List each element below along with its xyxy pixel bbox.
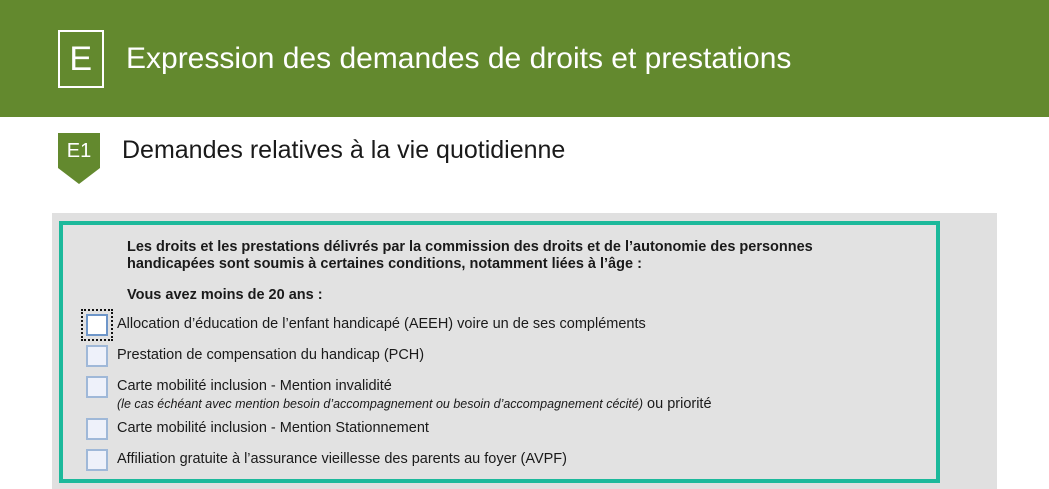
- option-checkbox[interactable]: [86, 449, 108, 471]
- section-title: Expression des demandes de droits et pre…: [126, 42, 791, 75]
- option-note: (le cas échéant avec mention besoin d’ac…: [117, 396, 712, 412]
- option-checkbox[interactable]: [86, 314, 108, 336]
- option-row[interactable]: Affiliation gratuite à l’assurance vieil…: [77, 448, 922, 474]
- checkbox-cell: [77, 375, 117, 398]
- questions-form-box: Les droits et les prestations délivrés p…: [59, 221, 940, 483]
- section-letter-box: E: [58, 30, 104, 88]
- option-label: Allocation d’éducation de l’enfant handi…: [117, 313, 646, 334]
- options-checkbox-list: Allocation d’éducation de l’enfant handi…: [77, 313, 922, 474]
- option-note-italic: (le cas échéant avec mention besoin d’ac…: [117, 397, 643, 411]
- option-row[interactable]: Carte mobilité inclusion - Mention Stati…: [77, 417, 922, 443]
- option-label: Carte mobilité inclusion - Mention inval…: [117, 378, 392, 394]
- option-row[interactable]: Prestation de compensation du handicap (…: [77, 344, 922, 370]
- option-row[interactable]: Allocation d’éducation de l’enfant handi…: [77, 313, 922, 339]
- section-header-band: E Expression des demandes de droits et p…: [0, 0, 1049, 117]
- subsection-title: Demandes relatives à la vie quotidienne: [122, 133, 565, 167]
- option-checkbox[interactable]: [86, 418, 108, 440]
- checkbox-cell: [77, 448, 117, 471]
- intro-paragraph: Les droits et les prestations délivrés p…: [127, 237, 897, 273]
- checkbox-cell: [77, 417, 117, 440]
- section-letter: E: [69, 42, 92, 76]
- option-label: Carte mobilité inclusion - Mention Stati…: [117, 417, 429, 438]
- option-row[interactable]: Carte mobilité inclusion - Mention inval…: [77, 375, 922, 412]
- option-checkbox[interactable]: [86, 345, 108, 367]
- option-label-group: Carte mobilité inclusion - Mention inval…: [117, 375, 712, 412]
- form-box-inner: Les droits et les prestations délivrés p…: [63, 225, 936, 489]
- checkbox-cell: [77, 344, 117, 367]
- subsection-heading: E1 Demandes relatives à la vie quotidien…: [58, 133, 565, 168]
- option-label: Affiliation gratuite à l’assurance vieil…: [117, 448, 567, 469]
- subsection-badge-label: E1: [67, 141, 91, 161]
- checkbox-cell: [77, 313, 117, 336]
- form-page: E Expression des demandes de droits et p…: [0, 0, 1049, 489]
- option-label: Prestation de compensation du handicap (…: [117, 344, 424, 365]
- sub-question-label: Vous avez moins de 20 ans :: [127, 287, 922, 304]
- option-note-trailing: ou priorité: [643, 396, 712, 412]
- option-checkbox[interactable]: [86, 376, 108, 398]
- subsection-badge-flag: E1: [58, 133, 100, 168]
